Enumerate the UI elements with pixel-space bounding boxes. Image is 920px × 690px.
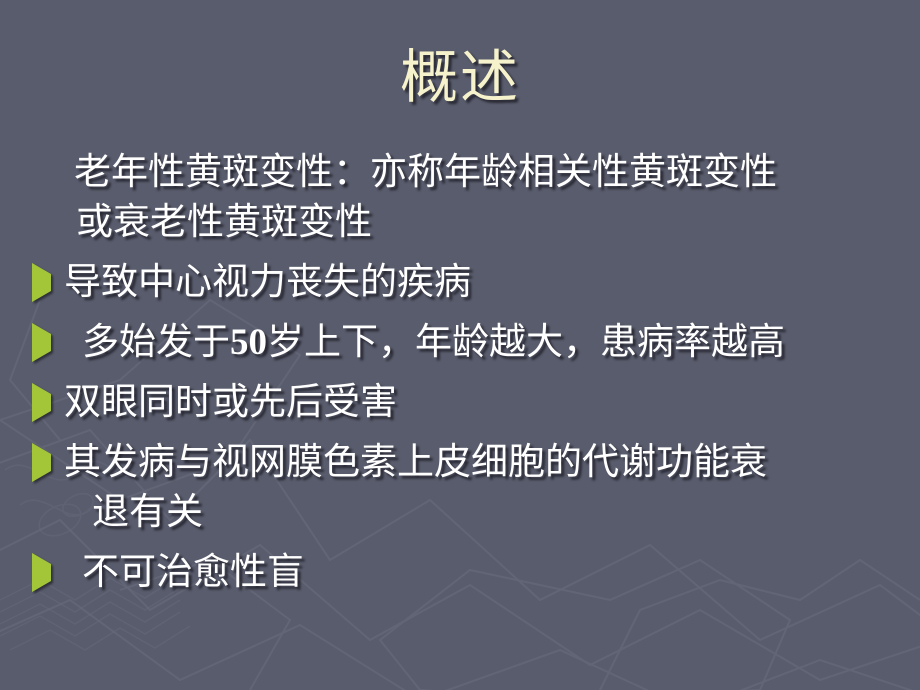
- list-item-label: 其发病与视网膜色素上皮细胞的代谢功能衰: [64, 442, 767, 483]
- list-item-text: 其发病与视网膜色素上皮细胞的代谢功能衰 退有关: [64, 438, 910, 538]
- list-item-text: 多始发于50岁上下，年龄越大，患病率越高: [64, 318, 910, 368]
- list-item: 导致中心视力丧失的疾病: [32, 258, 910, 308]
- list-item: 双眼同时或先后受害: [32, 378, 910, 428]
- list-item: 其发病与视网膜色素上皮细胞的代谢功能衰 退有关: [32, 438, 910, 538]
- intro-line-2: 或衰老性黄斑变性: [64, 198, 910, 248]
- intro-line-1: 老年性黄斑变性：亦称年龄相关性黄斑变性: [74, 152, 777, 193]
- triangle-right-icon: [32, 394, 62, 412]
- triangle-right-icon: [32, 274, 62, 292]
- list-item-label-post: 岁上下，年龄越大，患病率越高: [267, 322, 785, 363]
- triangle-right-icon: [32, 564, 62, 582]
- page-title: 概述: [400, 48, 520, 109]
- triangle-right-icon: [32, 334, 62, 352]
- list-item-text: 导致中心视力丧失的疾病: [64, 258, 910, 308]
- presentation-slide: 概述 老年性黄斑变性：亦称年龄相关性黄斑变性 或衰老性黄斑变性 导致中心视力丧失…: [0, 0, 920, 690]
- list-item: 多始发于50岁上下，年龄越大，患病率越高: [32, 318, 910, 368]
- list-item-label-pre: 多始发于: [82, 322, 230, 363]
- list-item-bold-number: 50: [230, 322, 267, 363]
- list-item-text: 双眼同时或先后受害: [64, 378, 910, 428]
- slide-body: 老年性黄斑变性：亦称年龄相关性黄斑变性 或衰老性黄斑变性 导致中心视力丧失的疾病…: [32, 148, 910, 598]
- title-area: 概述: [0, 48, 920, 109]
- list-item: 不可治愈性盲: [32, 548, 910, 598]
- list-item-text: 不可治愈性盲: [64, 548, 910, 598]
- list-item-label: 导致中心视力丧失的疾病: [64, 262, 471, 303]
- intro-paragraph: 老年性黄斑变性：亦称年龄相关性黄斑变性 或衰老性黄斑变性: [32, 148, 910, 248]
- triangle-right-icon: [32, 454, 62, 472]
- list-item-label-continued: 退有关: [64, 488, 910, 538]
- list-item-label: 双眼同时或先后受害: [64, 382, 397, 423]
- list-item-label: 不可治愈性盲: [82, 552, 304, 593]
